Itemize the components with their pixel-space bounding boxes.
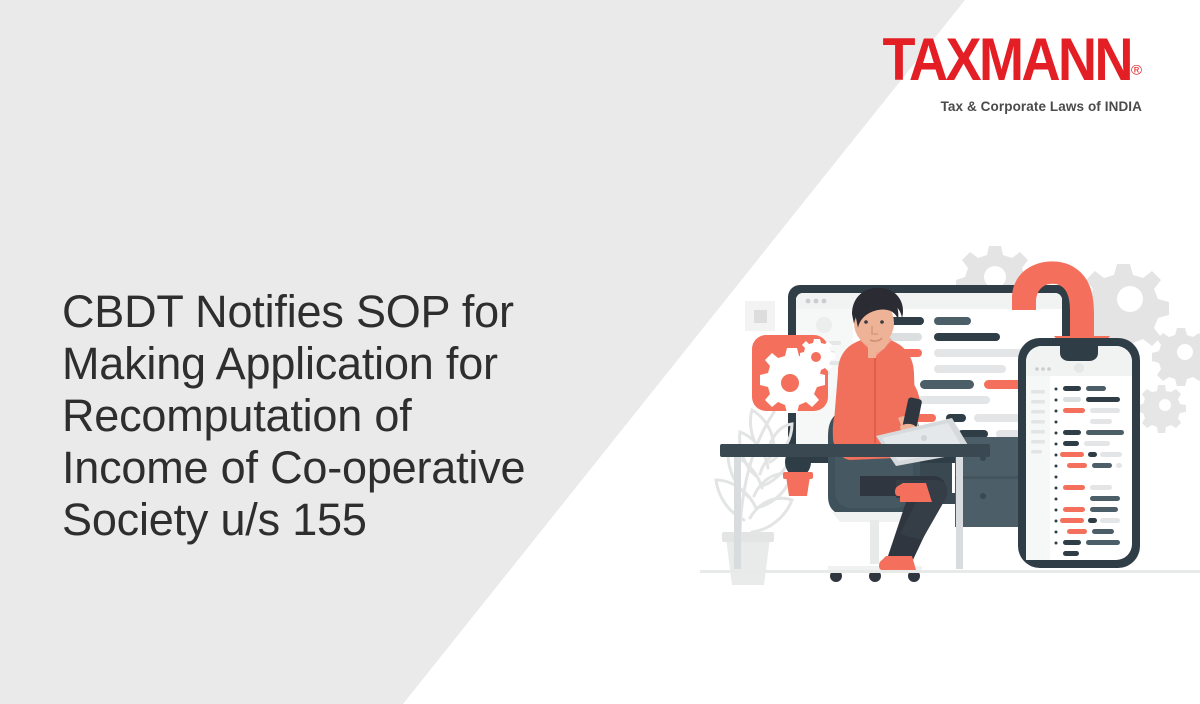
brand-logo: TAXMANN® Tax & Corporate Laws of INDIA bbox=[882, 36, 1142, 114]
person-shoe-upper bbox=[900, 490, 932, 502]
gear-decoration-tiny bbox=[1137, 385, 1186, 433]
plant-silhouette-large bbox=[716, 410, 792, 540]
hero-illustration bbox=[700, 240, 1200, 585]
smartphone bbox=[1018, 338, 1140, 568]
floor-line bbox=[700, 570, 1200, 573]
logo-tagline: Tax & Corporate Laws of INDIA bbox=[882, 99, 1142, 114]
page-title: CBDT Notifies SOP for Making Application… bbox=[62, 286, 592, 546]
plant-pot-large bbox=[722, 532, 774, 585]
gear-badge bbox=[752, 335, 835, 413]
slide-canvas: CBDT Notifies SOP for Making Application… bbox=[0, 0, 1200, 704]
picture-frame bbox=[736, 292, 784, 340]
logo-wordmark: TAXMANN bbox=[882, 30, 1130, 90]
registered-trademark-icon: ® bbox=[1131, 63, 1142, 78]
